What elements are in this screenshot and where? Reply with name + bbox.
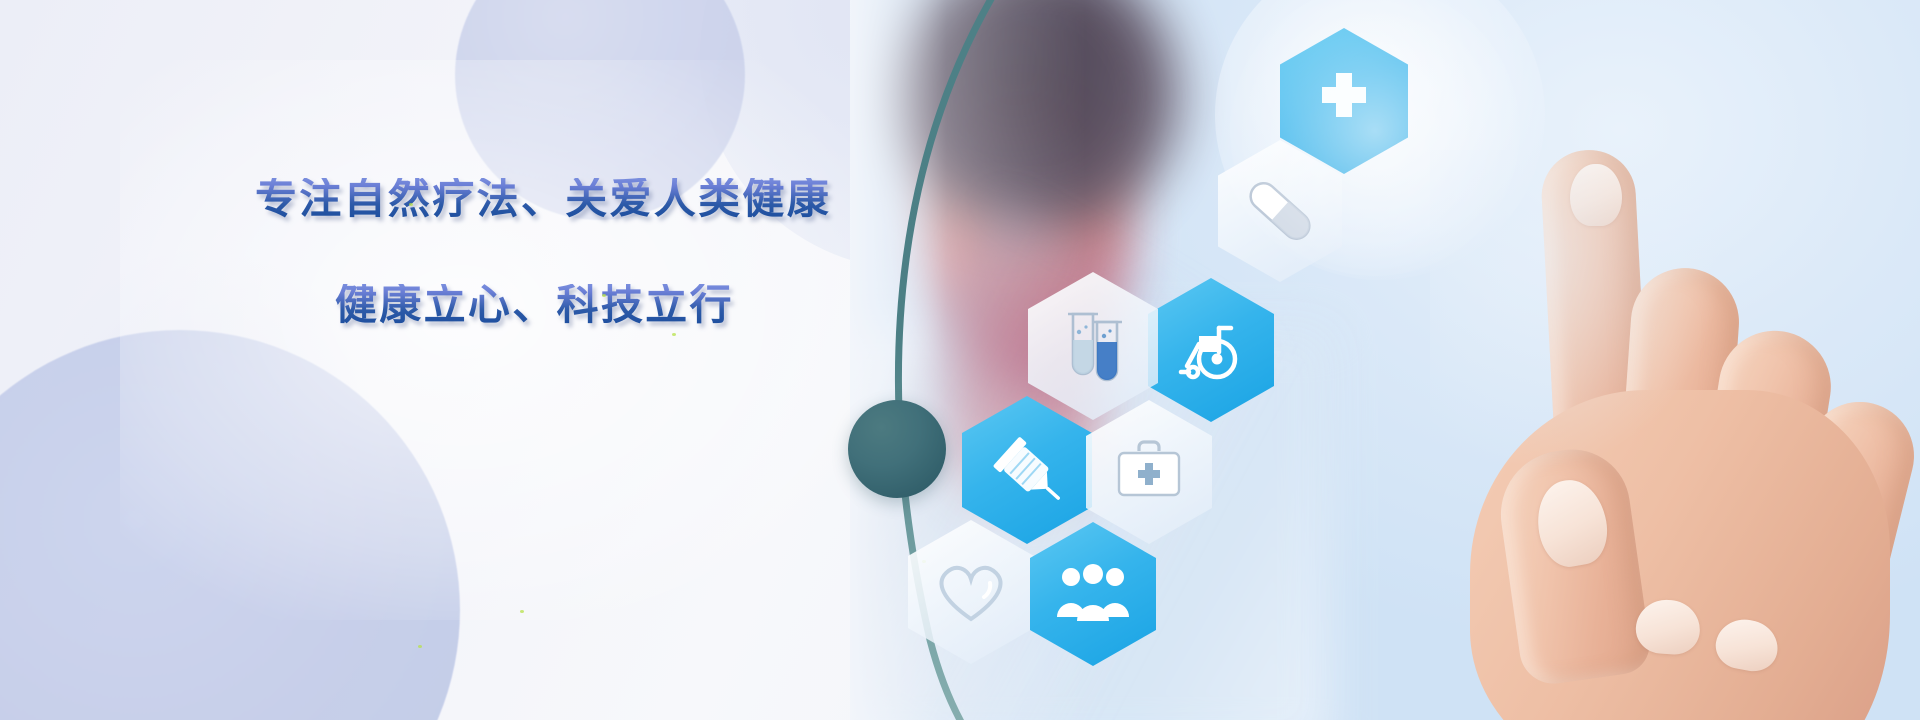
heart-icon <box>932 557 1010 627</box>
sparkle-dot <box>520 610 524 613</box>
hexagon-test-tubes <box>1028 272 1158 420</box>
sparkle-dot <box>409 203 413 206</box>
syringe-icon <box>985 428 1069 512</box>
sparkle-dot <box>418 645 422 648</box>
health-banner: 专注自然疗法、关爱人类健康 健康立心、科技立行 <box>0 0 1920 720</box>
wheelchair-icon <box>1173 314 1249 386</box>
hexagon-heart <box>908 520 1034 664</box>
sparkle-dot <box>672 333 676 336</box>
decorative-circle-bottom-left <box>0 330 460 720</box>
people-group-icon <box>1053 563 1133 625</box>
headline-block: 专注自然疗法、关爱人类健康 健康立心、科技立行 <box>255 178 875 326</box>
hexagon-icon-cluster <box>900 0 1520 720</box>
test-tubes-icon <box>1057 306 1129 386</box>
headline-line-2: 健康立心、科技立行 <box>335 284 875 326</box>
hexagon-medical-bag <box>1086 400 1212 544</box>
headline-line-1: 专注自然疗法、关爱人类健康 <box>255 178 875 220</box>
hexagon-wheelchair <box>1148 278 1274 422</box>
hand-highlight <box>1430 150 1920 720</box>
pointing-hand <box>1430 150 1920 720</box>
hexagon-people-group <box>1030 522 1156 666</box>
sparkle-dot <box>602 294 606 297</box>
hexagon-syringe <box>962 396 1092 544</box>
medical-bag-icon <box>1113 439 1185 505</box>
